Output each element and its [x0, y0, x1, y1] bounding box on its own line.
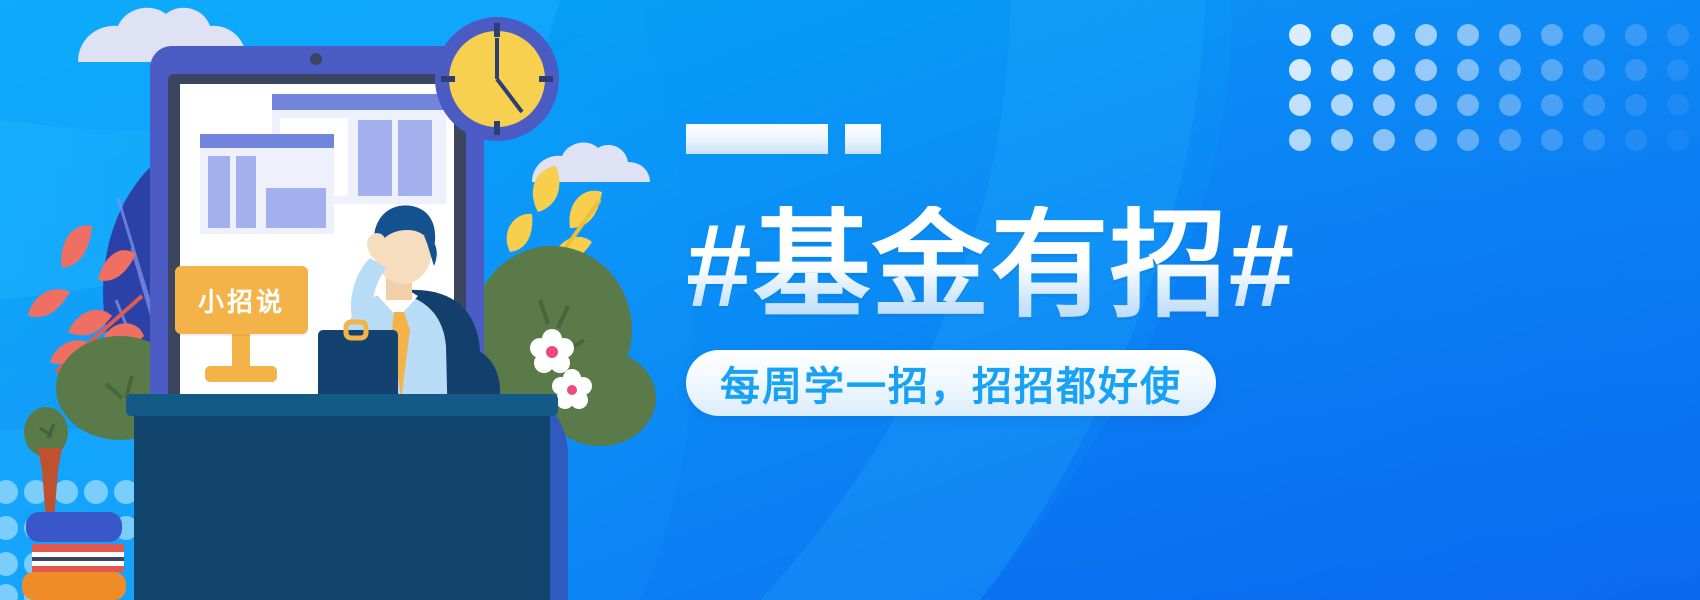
subtitle-text: 每周学一招，招招都好使 [720, 354, 1182, 412]
page-title: #基金有招# [686, 206, 1326, 326]
decorative-bar-small-icon [845, 124, 881, 154]
subtitle-pill: 每周学一招，招招都好使 [686, 350, 1216, 416]
decorative-bar-long-icon [686, 124, 828, 154]
promo-banner: 小招说 #基金有招# 每周学一招，招招都好使 [0, 0, 1700, 600]
decorative-bars [686, 110, 1326, 154]
headline-block: #基金有招# 每周学一招，招招都好使 [686, 110, 1326, 470]
